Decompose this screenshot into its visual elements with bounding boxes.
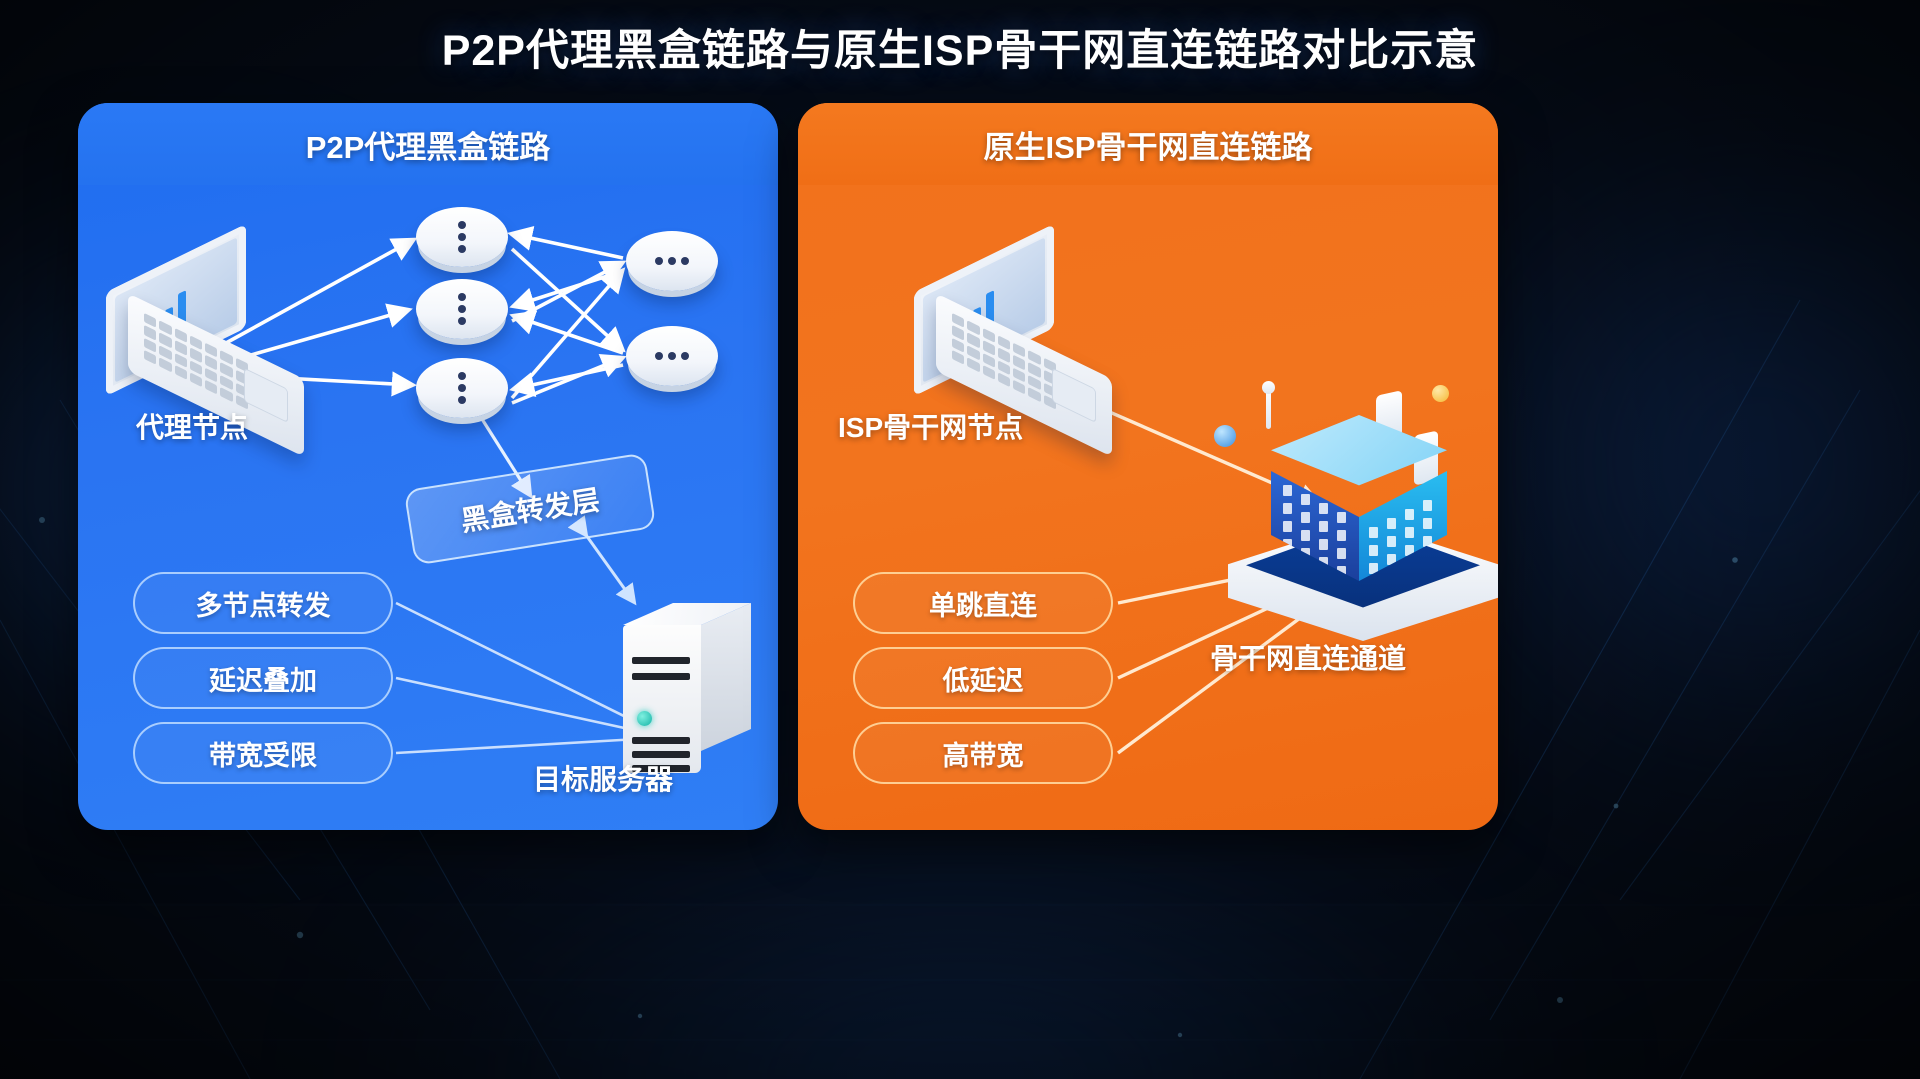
- proxy-node-3: [416, 358, 508, 418]
- deco-dot-yellow: [1432, 385, 1449, 402]
- target-server-label: 目标服务器: [533, 758, 673, 798]
- panel-right-stage: ISP骨干网节点: [798, 103, 1498, 830]
- isp-source-label: ISP骨干网节点: [838, 406, 1023, 446]
- deco-pin-head: [1262, 381, 1275, 394]
- right-pill-1[interactable]: 低延迟: [853, 647, 1113, 709]
- left-pill-1[interactable]: 延迟叠加: [133, 647, 393, 709]
- left-pill-0[interactable]: 多节点转发: [133, 572, 393, 634]
- panel-left-stage: 代理节点 黑盒转发层: [78, 103, 778, 830]
- proxy-node-1: [416, 207, 508, 267]
- proxy-node-4: [626, 231, 718, 291]
- left-pill-2[interactable]: 带宽受限: [133, 722, 393, 784]
- proxy-source-label: 代理节点: [136, 406, 248, 446]
- deco-dot-blue: [1214, 425, 1236, 447]
- target-server-icon: [623, 603, 751, 781]
- proxy-node-5: [626, 326, 718, 386]
- panel-p2p-proxy: P2P代理黑盒链路: [78, 103, 778, 830]
- right-pill-0[interactable]: 单跳直连: [853, 572, 1113, 634]
- isp-source-laptop-icon: [908, 258, 1118, 423]
- panel-isp-backbone: 原生ISP骨干网直连链路 ISP骨干网节点: [798, 103, 1498, 830]
- page-title: P2P代理黑盒链路与原生ISP骨干网直连链路对比示意: [0, 16, 1920, 78]
- proxy-node-2: [416, 279, 508, 339]
- proxy-source-laptop-icon: [100, 258, 310, 423]
- backbone-datacenter-icon: [1228, 391, 1498, 641]
- backbone-target-label: 骨干网直连通道: [1210, 637, 1406, 677]
- right-pill-2[interactable]: 高带宽: [853, 722, 1113, 784]
